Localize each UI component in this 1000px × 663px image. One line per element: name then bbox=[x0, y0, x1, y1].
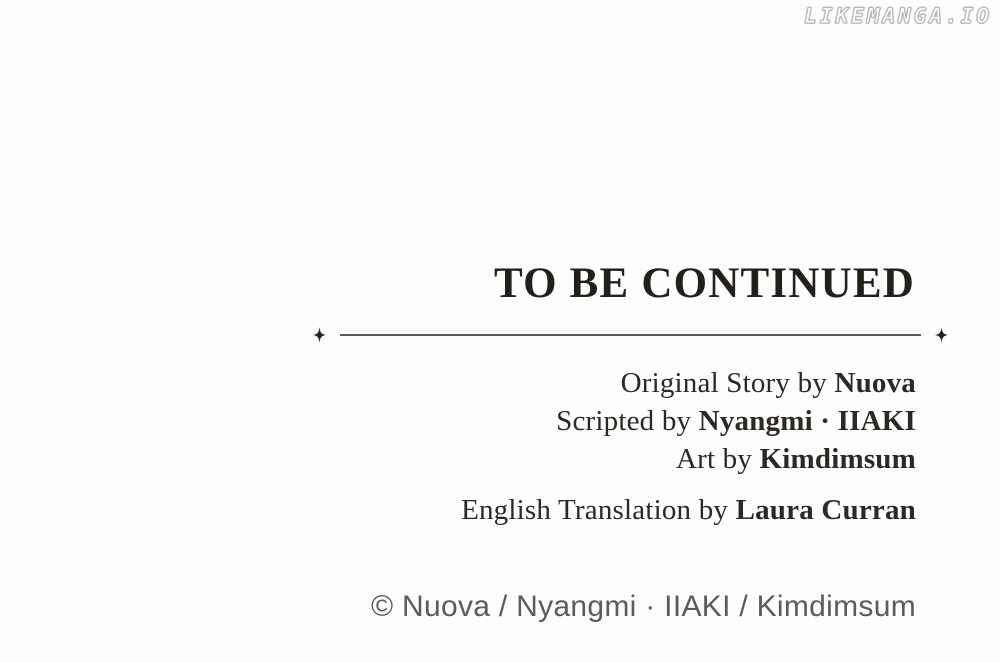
credit-name: Nuova bbox=[834, 367, 916, 399]
credit-role: Scripted by bbox=[556, 405, 699, 437]
credit-name: Kimdimsum bbox=[760, 443, 917, 475]
ornamental-divider bbox=[0, 322, 1000, 348]
credit-role: English Translation by bbox=[461, 494, 736, 526]
end-card-block: TO BE CONTINUED Original Story by Nuova … bbox=[0, 262, 1000, 529]
credit-line-scripted-by: Scripted by Nyangmi · IIAKI bbox=[0, 402, 916, 440]
credit-name: Nyangmi · IIAKI bbox=[699, 405, 916, 437]
manga-end-card-page: LIKEMANGA.IO TO BE CONTINUED Original St… bbox=[0, 0, 1000, 663]
copyright-notice: © Nuova / Nyangmi · IIAKI / Kimdimsum bbox=[0, 588, 1000, 626]
credit-name: Laura Curran bbox=[736, 494, 916, 526]
to-be-continued-title: TO BE CONTINUED bbox=[0, 262, 1000, 305]
credit-role: Art by bbox=[676, 443, 760, 475]
credit-role: Original Story by bbox=[621, 367, 835, 399]
credits-list: Original Story by Nuova Scripted by Nyan… bbox=[0, 364, 1000, 529]
four-point-star-icon-left bbox=[313, 327, 326, 343]
credit-line-art-by: Art by Kimdimsum bbox=[0, 440, 916, 478]
divider-line bbox=[340, 334, 921, 336]
site-watermark: LIKEMANGA.IO bbox=[804, 4, 992, 28]
four-point-star-icon-right bbox=[935, 327, 948, 343]
credit-line-original-story: Original Story by Nuova bbox=[0, 364, 916, 402]
credit-line-english-translation: English Translation by Laura Curran bbox=[0, 491, 916, 529]
